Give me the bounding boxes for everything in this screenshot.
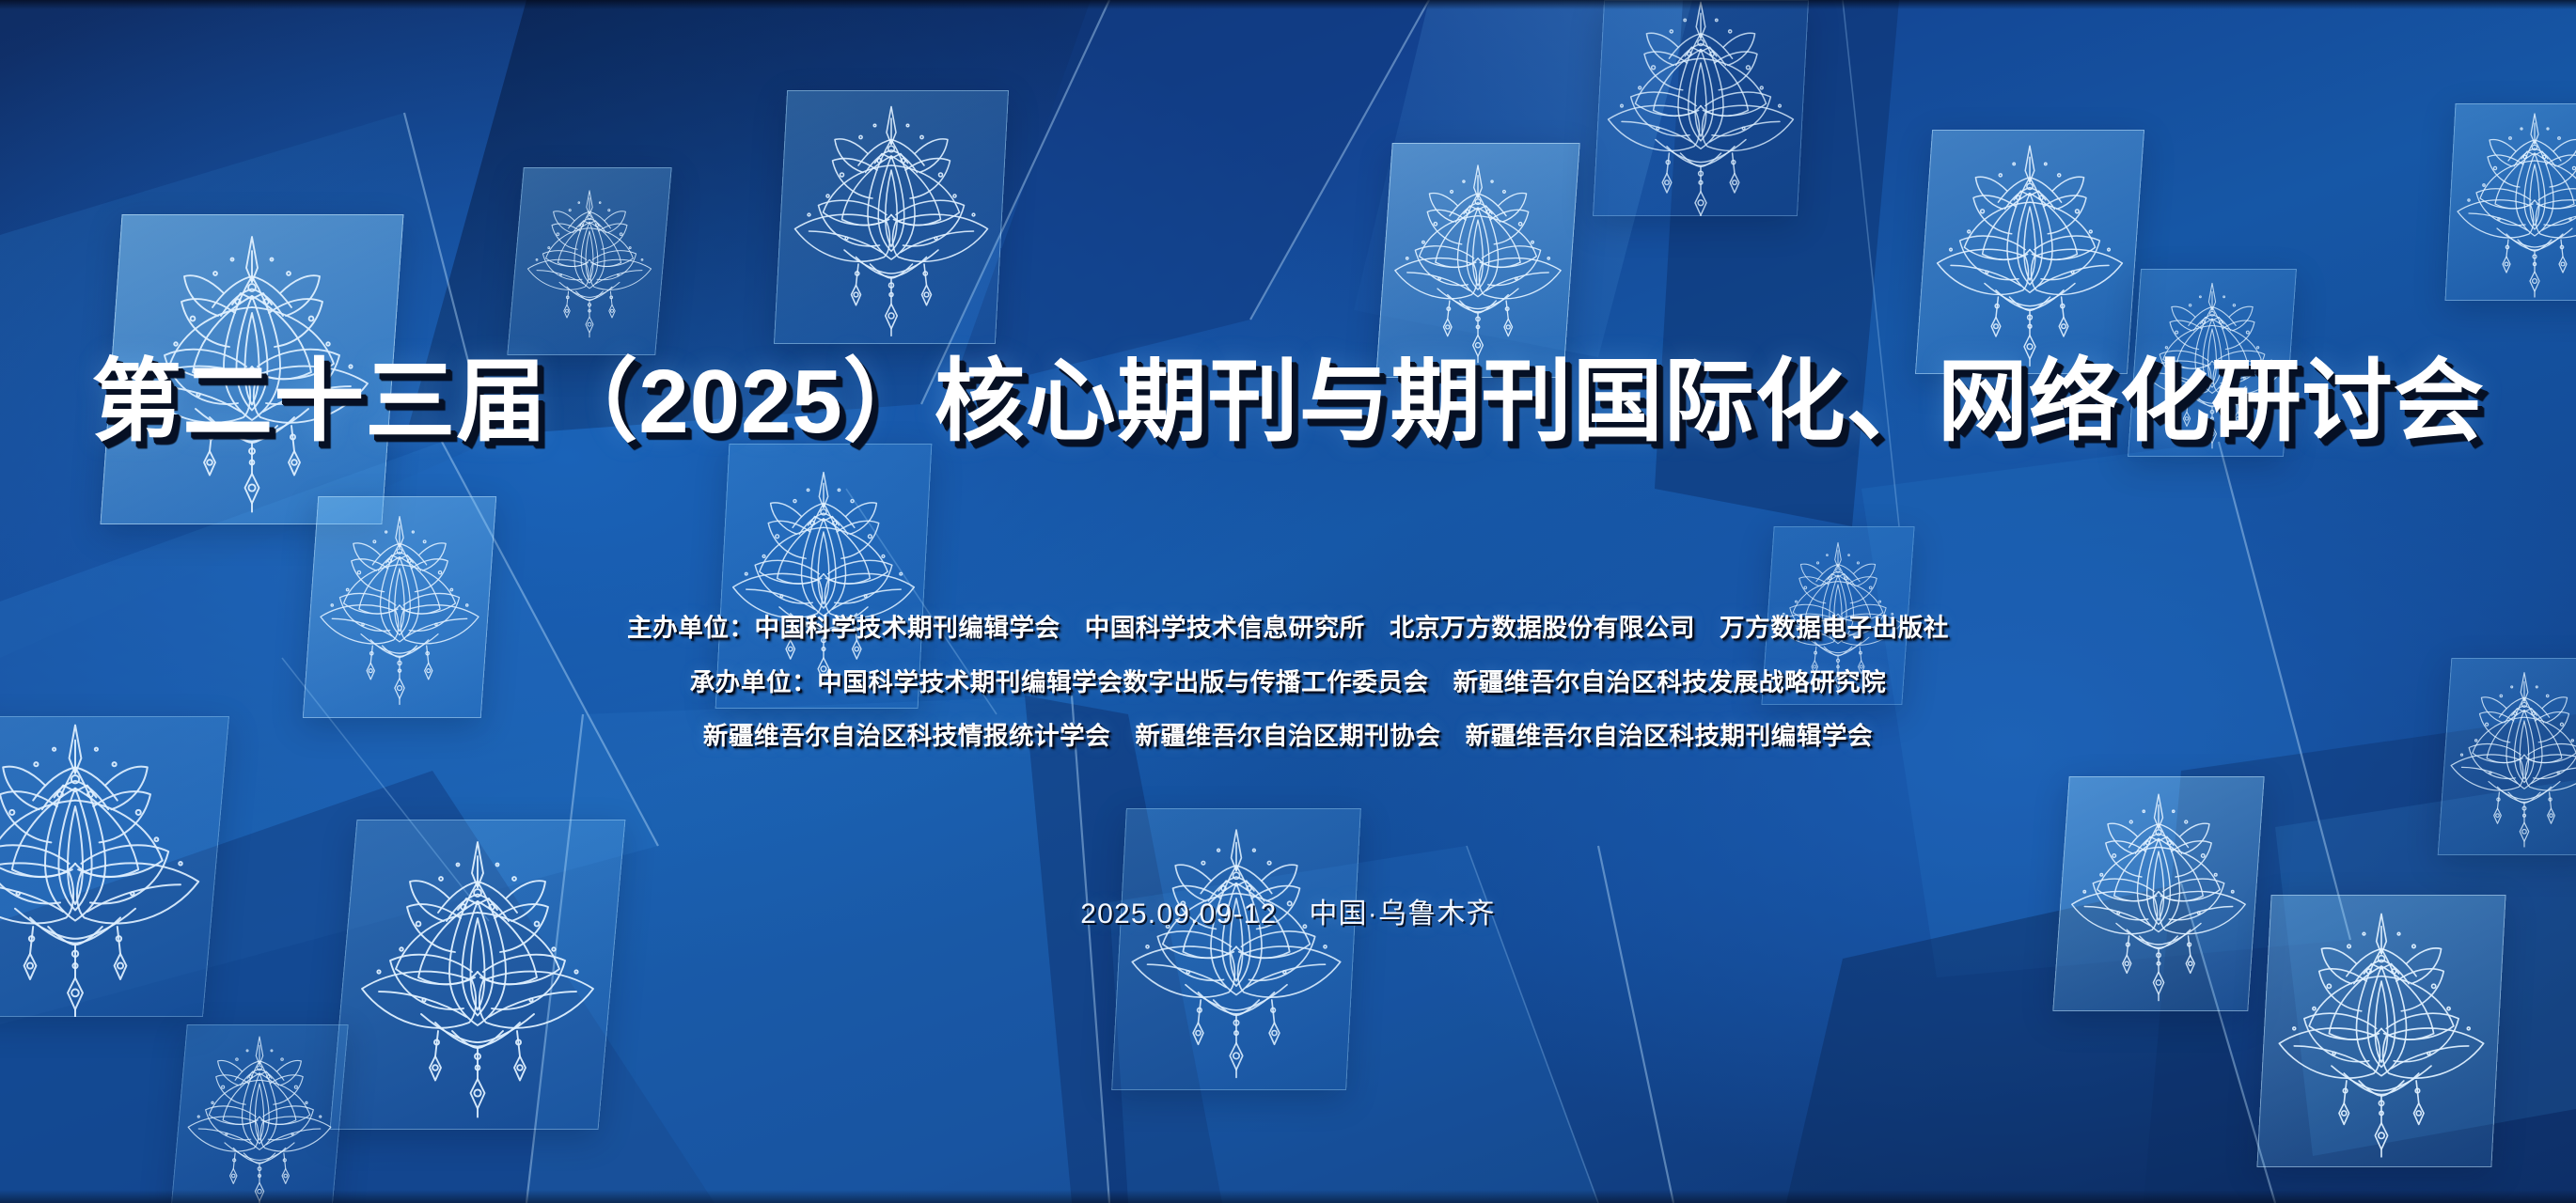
conference-banner: 第二十三届（2025）核心期刊与期刊国际化、网络化研讨会 主办单位：中国科学技术… (0, 0, 2576, 1203)
host-item-0: 中国科学技术期刊编辑学会 (755, 614, 1060, 642)
coorganizer-label: 承办单位： (690, 668, 818, 696)
coorg-item-4: 新疆维吾尔自治区科技期刊编辑学会 (1466, 722, 1874, 750)
coorg-item-2: 新疆维吾尔自治区科技情报统计学会 (703, 722, 1111, 750)
event-datebar: 2025.09.09-12中国·乌鲁木齐 (0, 890, 2576, 931)
organizer-block: 主办单位：中国科学技术期刊编辑学会中国科学技术信息研究所北京万方数据股份有限公司… (0, 616, 2576, 778)
page-title: 第二十三届（2025）核心期刊与期刊国际化、网络化研讨会 (0, 355, 2576, 450)
host-item-3: 万方数据电子出版社 (1720, 614, 1949, 642)
coorg-item-0: 中国科学技术期刊编辑学会数字出版与传播工作委员会 (817, 668, 1428, 696)
event-location: 中国·乌鲁木齐 (1309, 898, 1495, 930)
host-label: 主办单位： (627, 614, 755, 642)
host-line: 主办单位：中国科学技术期刊编辑学会中国科学技术信息研究所北京万方数据股份有限公司… (0, 616, 2576, 641)
event-date: 2025.09.09-12 (1080, 898, 1277, 930)
host-item-1: 中国科学技术信息研究所 (1085, 614, 1365, 642)
host-item-2: 北京万方数据股份有限公司 (1390, 614, 1695, 642)
coorg-item-1: 新疆维吾尔自治区科技发展战略研究院 (1453, 668, 1887, 696)
coorganizer-line-1: 承办单位：中国科学技术期刊编辑学会数字出版与传播工作委员会新疆维吾尔自治区科技发… (0, 670, 2576, 695)
coorganizer-line-2: 新疆维吾尔自治区科技情报统计学会新疆维吾尔自治区期刊协会新疆维吾尔自治区科技期刊… (0, 724, 2576, 749)
coorg-item-3: 新疆维吾尔自治区期刊协会 (1135, 722, 1440, 750)
